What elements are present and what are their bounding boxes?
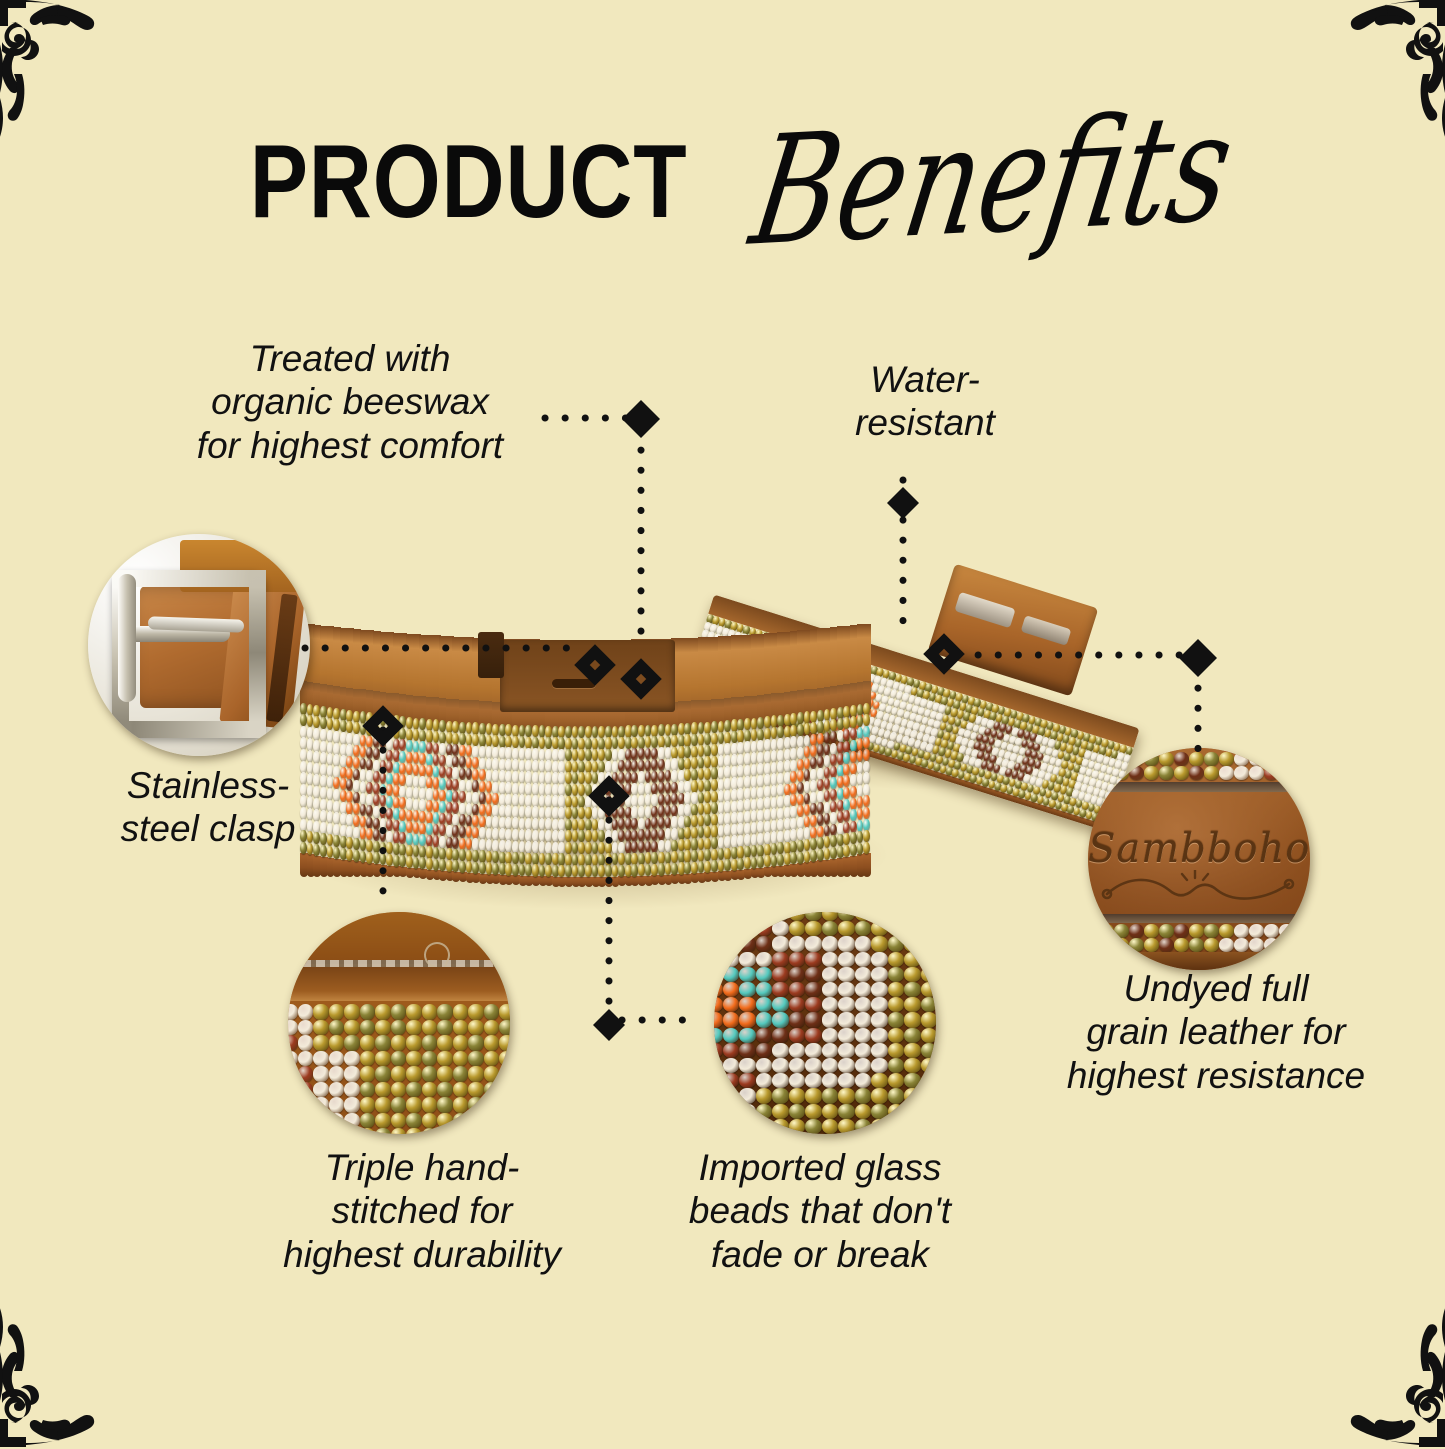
anchor-leather: [1179, 639, 1217, 677]
benefit-label-glass-beads: Imported glass beads that don't fade or …: [630, 1146, 1010, 1276]
stainless-steel-buckle-closeup: [88, 534, 310, 756]
main-collar-image: [300, 622, 870, 877]
flourish-corner-ornament: [1299, 1299, 1445, 1449]
title-benefits: Benefits: [741, 79, 1243, 280]
benefit-label-water-resistant: Water- resistant: [790, 358, 1060, 445]
glass-beads-closeup: [714, 912, 936, 1134]
anchor-beads: [593, 1009, 625, 1041]
benefit-label-stainless-clasp: Stainless- steel clasp: [58, 764, 358, 851]
brand-flourish-icon: [1099, 870, 1299, 913]
title-product: PRODUCT: [250, 123, 688, 242]
anchor-beeswax: [622, 400, 660, 438]
page-title: PRODUCTBenefits: [0, 116, 1445, 248]
hand-stitching-closeup: [288, 912, 510, 1134]
leather-brand-stamp-closeup: Sambboho: [1088, 748, 1310, 970]
benefit-label-beeswax: Treated with organic beeswax for highest…: [140, 337, 560, 467]
infographic-canvas: PRODUCTBenefits Sambboho: [0, 0, 1445, 1445]
flourish-corner-ornament: [0, 1299, 146, 1449]
benefit-label-undyed-leather: Undyed full grain leather for highest re…: [1006, 967, 1426, 1097]
anchor-water-top: [887, 487, 919, 519]
brand-stamp-text: Sambboho: [1088, 826, 1310, 872]
benefit-label-triple-stitched: Triple hand- stitched for highest durabi…: [212, 1146, 632, 1276]
